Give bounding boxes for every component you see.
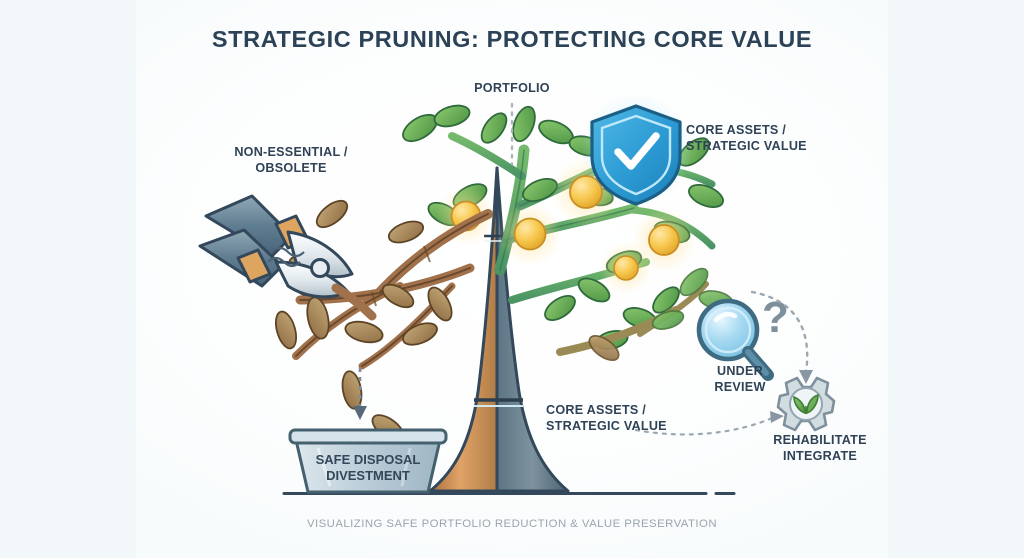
infographic-root: ? [0, 0, 1024, 558]
label-non-essential: NON-ESSENTIAL / OBSOLETE [196, 144, 386, 176]
label-rehabilitate-integrate: REHABILITATE INTEGRATE [740, 432, 900, 464]
label-under-review: UNDER REVIEW [690, 363, 790, 395]
label-portfolio: PORTFOLIO [442, 80, 582, 96]
label-core-assets-top: CORE ASSETS / STRATEGIC VALUE [686, 122, 856, 154]
fruit [498, 202, 562, 266]
question-mark-icon: ? [762, 293, 789, 342]
fruit [600, 242, 652, 294]
page-title: STRATEGIC PRUNING: PROTECTING CORE VALUE [0, 26, 1024, 53]
svg-text:?: ? [762, 293, 789, 342]
label-core-assets-trunk: CORE ASSETS / STRATEGIC VALUE [546, 402, 726, 434]
pruning-shears-icon [200, 196, 372, 316]
footer-caption: VISUALIZING SAFE PORTFOLIO REDUCTION & V… [0, 518, 1024, 530]
label-safe-disposal: SAFE DISPOSAL DIVESTMENT [303, 452, 433, 485]
shield-check-icon [580, 94, 692, 206]
